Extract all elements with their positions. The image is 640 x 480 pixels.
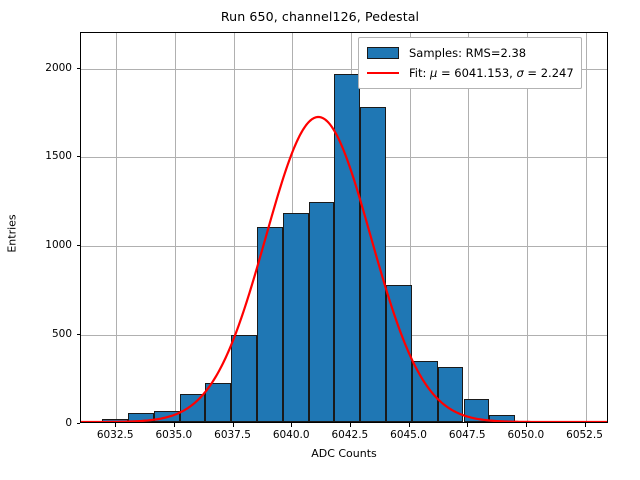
histogram-bar [283,213,309,422]
histogram-bar [102,419,128,422]
gridline-vertical-1 [175,33,176,422]
y-tick-mark [77,156,81,157]
x-tick-mark [526,423,527,427]
histogram-bar [334,74,360,422]
legend-fit-prefix: Fit: [409,66,430,80]
y-axis-label: Entries [6,214,19,252]
histogram-bar [257,227,283,422]
histogram-bar [412,361,438,422]
x-tick-label: 6047.5 [449,429,486,441]
x-tick-label: 6037.5 [214,429,251,441]
histogram-bar [309,202,335,422]
gridline-vertical-0 [116,33,117,422]
x-tick-label: 6042.5 [331,429,368,441]
x-axis-label: ADC Counts [80,447,608,460]
x-tick-label: 6045.0 [390,429,427,441]
histogram-bar [438,367,464,422]
histogram-bar [205,383,231,422]
x-tick-label: 6050.0 [507,429,544,441]
x-tick-label: 6032.5 [97,429,134,441]
histogram-bar [180,394,206,422]
y-tick-label: 0 [65,417,72,429]
x-tick-mark [291,423,292,427]
histogram-bar [360,107,386,422]
x-tick-mark [233,423,234,427]
legend-entry-fit: Fit: μ = 6041.153, σ = 2.247 [365,63,574,83]
x-tick-label: 6052.5 [566,429,603,441]
histogram-bar [386,285,412,422]
histogram-bar [464,399,490,422]
legend-label-fit: Fit: μ = 6041.153, σ = 2.247 [409,66,574,80]
histogram-bar [128,413,154,422]
legend-swatch-fit-icon [365,72,401,74]
x-tick-mark [174,423,175,427]
legend-fit-sigma-symbol: σ [516,66,523,80]
x-tick-label: 6040.0 [273,429,310,441]
y-tick-label: 1000 [45,239,72,251]
x-tick-label: 6035.0 [155,429,192,441]
legend-box: Samples: RMS=2.38 Fit: μ = 6041.153, σ =… [358,37,582,89]
gridline-vertical-6 [468,33,469,422]
chart-title: Run 650, channel126, Pedestal [0,9,640,24]
y-tick-mark [77,245,81,246]
y-tick-label: 1500 [45,150,72,162]
legend-entry-samples: Samples: RMS=2.38 [365,43,574,63]
gridline-vertical-8 [586,33,587,422]
histogram-bar [154,411,180,422]
x-tick-mark [409,423,410,427]
y-tick-label: 500 [52,328,72,340]
y-tick-mark [77,334,81,335]
y-tick-label: 2000 [45,62,72,74]
x-tick-mark [585,423,586,427]
legend-fit-mu-value: = 6041.153, [437,66,516,80]
gridline-vertical-7 [527,33,528,422]
legend-fit-sigma-value: = 2.247 [524,66,574,80]
legend-swatch-samples-icon [365,47,401,59]
x-tick-mark [467,423,468,427]
y-tick-mark [77,68,81,69]
histogram-bar [489,415,515,422]
y-tick-mark [77,423,81,424]
histogram-bar [231,335,257,422]
plot-area [80,32,608,423]
x-tick-mark [350,423,351,427]
figure-canvas: Run 650, channel126, Pedestal 6032.56035… [0,0,640,480]
x-tick-mark [115,423,116,427]
legend-label-samples: Samples: RMS=2.38 [409,46,526,60]
